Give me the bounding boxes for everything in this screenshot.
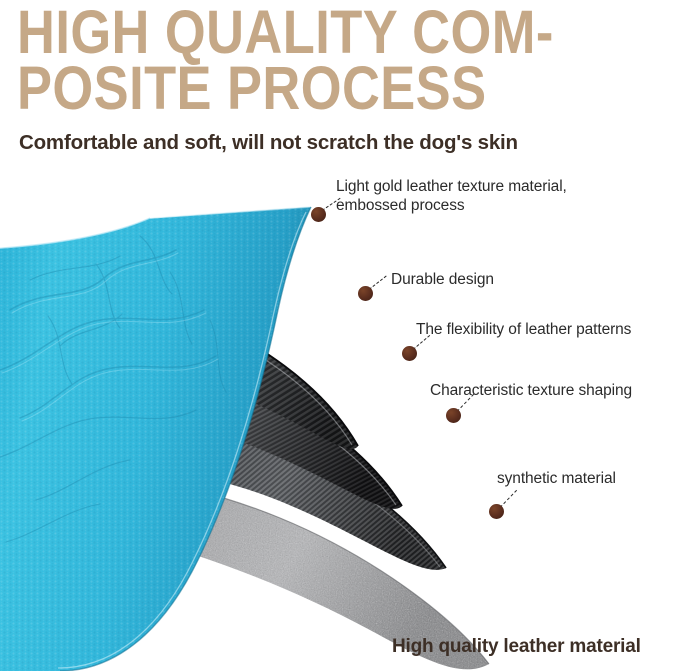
callout-dot-light-gold-leather[interactable] xyxy=(311,207,326,222)
layered-material-illustration xyxy=(0,160,679,671)
callout-label-line-1: Durable design xyxy=(391,270,494,289)
callout-label-leather-pattern-flexibility: The flexibility of leather patterns xyxy=(416,320,631,339)
headline-line-2: POSITE PROCESS xyxy=(17,60,576,116)
callout-dot-leather-pattern-flexibility[interactable] xyxy=(402,346,417,361)
callout-dot-durable-design[interactable] xyxy=(358,286,373,301)
footer-caption: High quality leather material xyxy=(392,636,641,658)
callout-label-durable-design: Durable design xyxy=(391,270,494,289)
callout-label-line-1: The flexibility of leather patterns xyxy=(416,320,631,339)
callout-dot-characteristic-texture[interactable] xyxy=(446,408,461,423)
subtitle: Comfortable and soft, will not scratch t… xyxy=(19,131,518,155)
callout-dot-synthetic-material[interactable] xyxy=(489,504,504,519)
callout-label-synthetic-material: synthetic material xyxy=(497,469,616,488)
callout-label-light-gold-leather: Light gold leather texture material, emb… xyxy=(336,177,567,215)
callout-label-characteristic-texture: Characteristic texture shaping xyxy=(430,381,632,400)
callout-label-line-2: embossed process xyxy=(336,196,567,215)
headline-line-1: HIGH QUALITY COM- xyxy=(17,4,576,60)
header-block: HIGH QUALITY COM- POSITE PROCESS xyxy=(17,4,667,116)
callout-label-line-1: synthetic material xyxy=(497,469,616,488)
callout-label-line-1: Light gold leather texture material, xyxy=(336,177,567,196)
callout-label-line-1: Characteristic texture shaping xyxy=(430,381,632,400)
